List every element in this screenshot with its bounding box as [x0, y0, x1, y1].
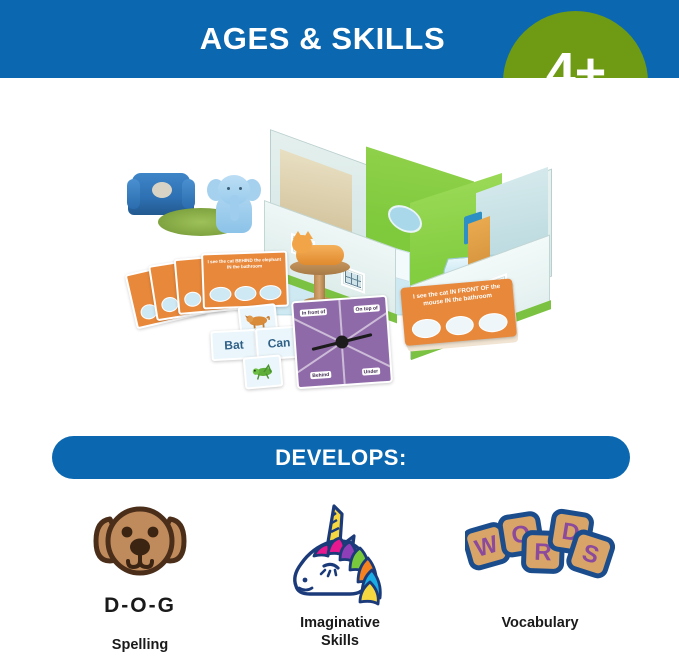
- spinner-hub: [335, 335, 349, 349]
- orange-sentence-cards: I see the cat BEHIND the elephant IN the…: [130, 250, 310, 330]
- sentence-card-text: I see the cat BEHIND the elephant IN the…: [207, 257, 281, 271]
- dog-picture-icon: [244, 311, 272, 330]
- elephant-eye: [239, 187, 242, 190]
- skills-row: D-O-G Spelling: [40, 492, 640, 652]
- skill-vocabulary: W O R D: [440, 492, 640, 632]
- elephant-figure: [206, 171, 262, 233]
- sofa-arm-right: [182, 179, 195, 209]
- skill-imaginative: Imaginative Skills: [240, 492, 440, 650]
- book-cover: I see the cat IN FRONT OF the mouse IN t…: [400, 278, 517, 346]
- sentence-card-pictures: [209, 285, 281, 303]
- product-photo: I see the cat BEHIND the elephant IN the…: [0, 78, 679, 428]
- unicorn-head-svg: [284, 502, 396, 610]
- picture-card-grasshopper: [243, 354, 284, 389]
- spinner-label-on-top-of: On top of: [353, 304, 380, 313]
- sofa-arm-left: [127, 179, 140, 209]
- sofa-pillow: [152, 182, 172, 198]
- word-blocks-svg: W O R D: [465, 505, 615, 601]
- product-photo-stage: I see the cat BEHIND the elephant IN the…: [0, 78, 679, 428]
- unicorn-head-icon: [284, 492, 396, 620]
- skill-label-spelling: Spelling: [112, 636, 168, 654]
- spinner-label-behind: Behind: [310, 371, 331, 379]
- spinner-label-under: Under: [361, 367, 380, 375]
- elephant-trunk: [230, 195, 239, 221]
- orange-sentence-book: I see the cat IN FRONT OF the mouse IN t…: [400, 278, 520, 356]
- preposition-spinner[interactable]: In front of On top of Behind Under: [291, 295, 393, 389]
- sentence-card-top: I see the cat BEHIND the elephant IN the…: [201, 251, 289, 310]
- dog-face-icon: [88, 492, 192, 592]
- word-blocks-icon: W O R D: [465, 492, 615, 614]
- grasshopper-picture-icon: [249, 362, 276, 382]
- dog-spelling-word: D-O-G: [104, 594, 176, 618]
- book-sentence-text: I see the cat IN FRONT OF the mouse IN t…: [407, 282, 508, 310]
- develops-banner-label: DEVELOPS:: [275, 445, 407, 471]
- skill-label-vocabulary: Vocabulary: [501, 614, 578, 632]
- spinner-label-in-front-of: In front of: [300, 308, 328, 317]
- skill-label-imaginative-line2: Skills: [300, 632, 380, 650]
- skill-label-imaginative-line1: Imaginative: [300, 614, 380, 632]
- book-pictures: [411, 312, 508, 339]
- skill-spelling: D-O-G Spelling: [40, 492, 240, 654]
- dog-face-svg: [88, 499, 192, 585]
- develops-banner: DEVELOPS:: [52, 436, 630, 479]
- skill-label-imaginative: Imaginative Skills: [300, 614, 380, 650]
- spinner-face: In front of On top of Behind Under: [291, 295, 393, 389]
- table-stem: [314, 271, 325, 301]
- elephant-eye: [227, 187, 230, 190]
- page-root: AGES & SKILLS 4+ years: [0, 0, 679, 659]
